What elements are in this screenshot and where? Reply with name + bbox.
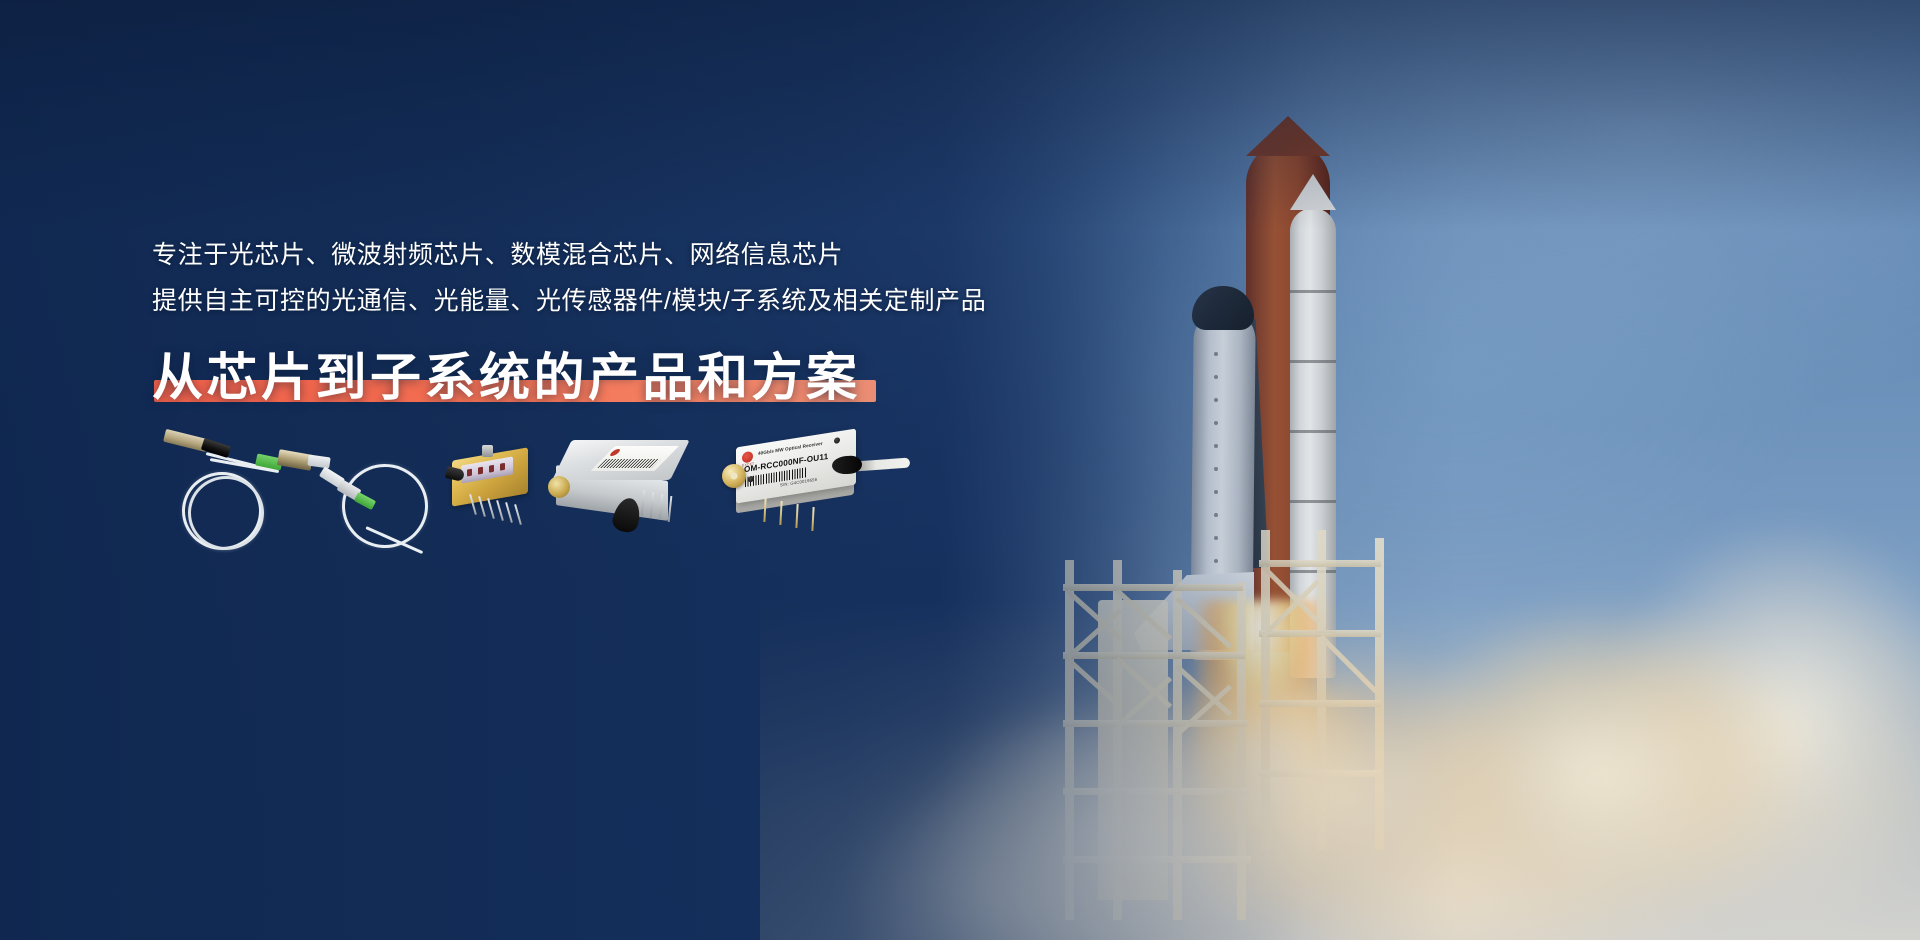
hero-banner: 专注于光芯片、微波射频芯片、数模混合芯片、网络信息芯片 提供自主可控的光通信、光… — [0, 0, 1920, 940]
product-butterfly-laser — [452, 454, 528, 500]
orbiter-nose-cone — [1192, 286, 1254, 330]
banner-copy-block: 专注于光芯片、微波射频芯片、数模混合芯片、网络信息芯片 提供自主可控的光通信、光… — [152, 232, 1102, 408]
rf-module-label — [591, 446, 679, 471]
butterfly-fiber-post — [482, 445, 493, 457]
banner-subtitle-line-1: 专注于光芯片、微波射频芯片、数模混合芯片、网络信息芯片 — [152, 232, 1102, 278]
rf-module-logo-icon — [608, 449, 622, 456]
banner-headline: 从芯片到子系统的产品和方案 — [152, 348, 861, 408]
product-image-row: EXCET 40Gb/s MW Optical Receiver OM-RCC0… — [152, 428, 932, 558]
receiver-fiber-boot — [831, 455, 862, 475]
banner-headline-wrap: 从芯片到子系统的产品和方案 — [152, 348, 861, 408]
receiver-sma-connector — [722, 464, 746, 488]
rf-module-top-face — [552, 440, 690, 480]
banner-subtitle-line-2: 提供自主可控的光通信、光能量、光传感器件/模块/子系统及相关定制产品 — [152, 278, 1102, 324]
product-rf-module — [556, 440, 684, 518]
product-optical-receiver: EXCET 40Gb/s MW Optical Receiver OM-RCC0… — [724, 438, 884, 524]
rf-module-sma-connector — [548, 476, 570, 498]
rf-module-barcode — [597, 459, 660, 468]
